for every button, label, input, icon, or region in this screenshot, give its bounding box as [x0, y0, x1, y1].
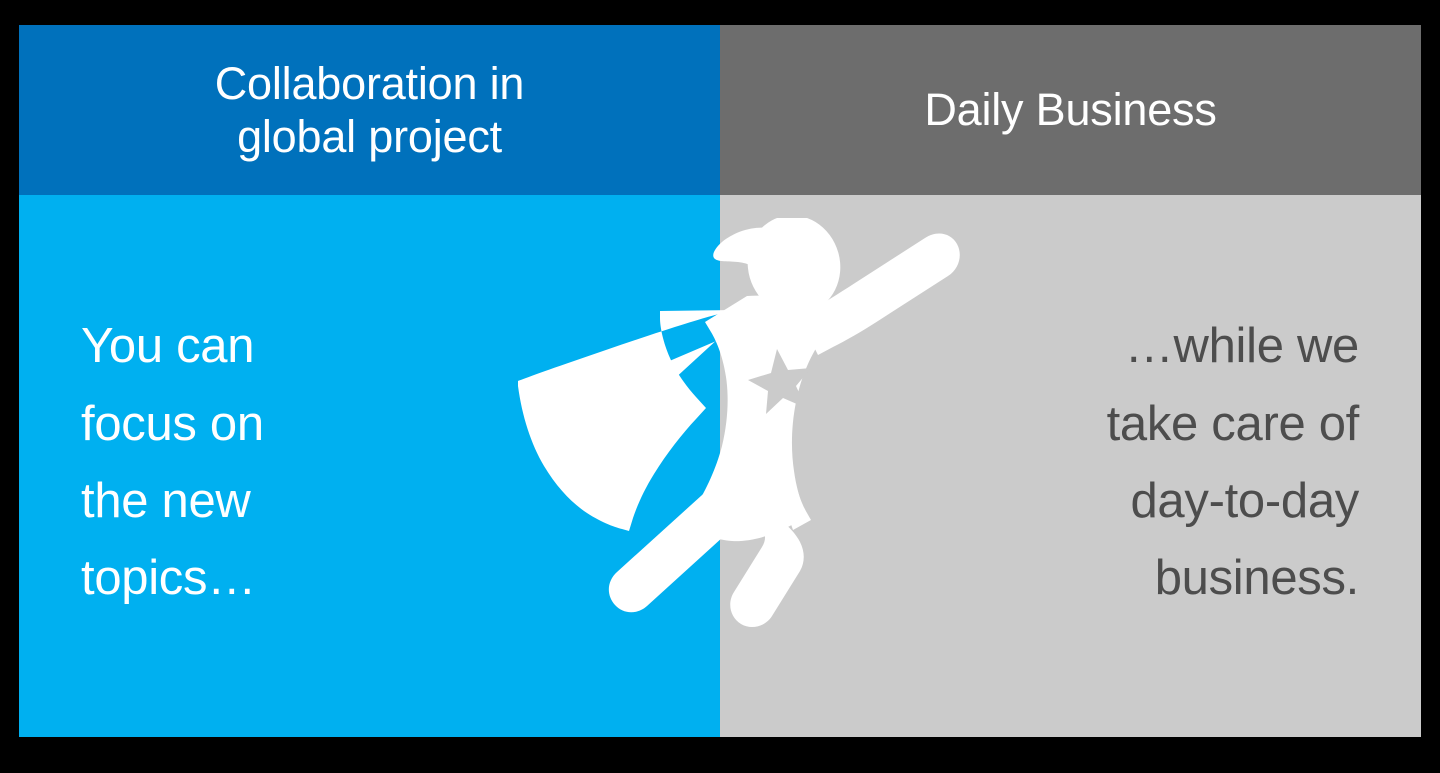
header-daily-business-title: Daily Business — [924, 83, 1216, 136]
body-daily-business-text: …while we take care of day-to-day busine… — [1107, 308, 1421, 624]
column-daily-business: Daily Business …while we take care of da… — [720, 25, 1421, 737]
body-daily-business: …while we take care of day-to-day busine… — [720, 195, 1421, 737]
header-collaboration: Collaboration in global project — [19, 25, 720, 195]
body-collaboration-text: You can focus on the new topics… — [19, 308, 264, 624]
two-column-board: Collaboration in global project You can … — [19, 25, 1421, 737]
header-collaboration-title: Collaboration in global project — [215, 57, 525, 163]
body-collaboration: You can focus on the new topics… — [19, 195, 720, 737]
slide-canvas: Collaboration in global project You can … — [0, 0, 1440, 773]
column-collaboration: Collaboration in global project You can … — [19, 25, 720, 737]
header-daily-business: Daily Business — [720, 25, 1421, 195]
